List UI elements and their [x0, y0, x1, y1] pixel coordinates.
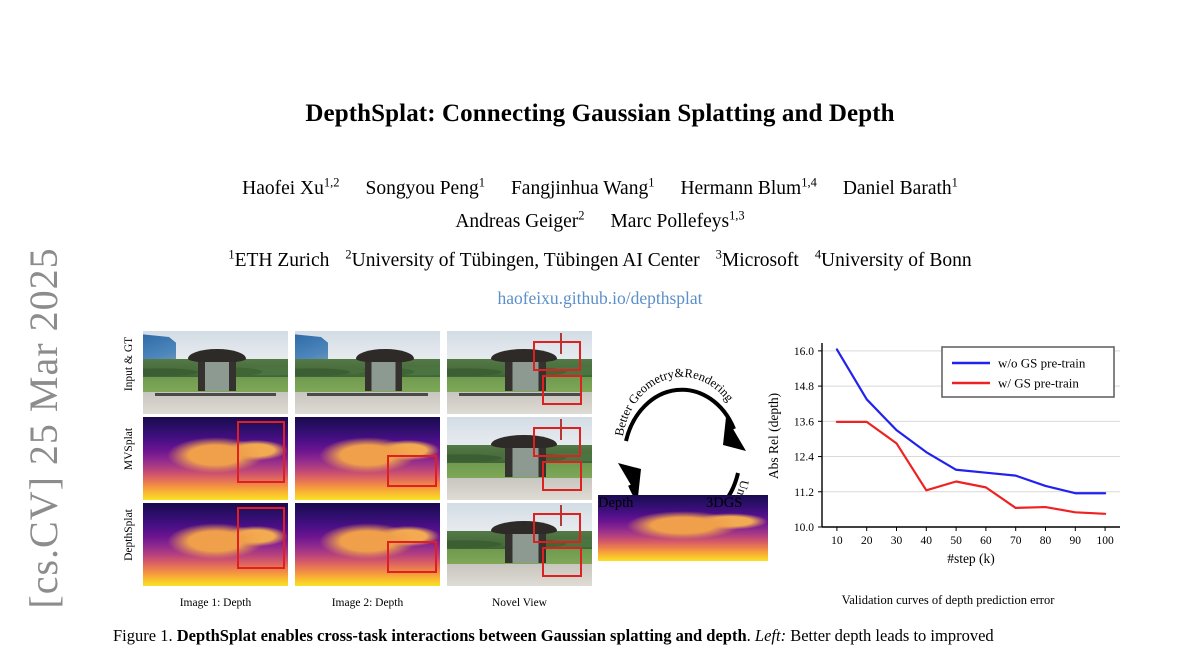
validation-curve-chart: 10.011.212.413.614.816.01020304050607080…: [762, 331, 1134, 616]
chart-xtick-label: 10: [831, 535, 843, 547]
chart-ytick-label: 12.4: [794, 452, 814, 464]
cycle-node-3dgs: 3DGS: [706, 495, 742, 512]
chart-xtick-label: 80: [1040, 535, 1052, 547]
chart-xtick-label: 40: [921, 535, 933, 547]
col-caption-image2: Image 2: Depth: [295, 597, 440, 609]
cell-depthsplat-depth1: [143, 503, 288, 586]
cell-depthsplat-novel-view: [447, 503, 592, 586]
cell-depthsplat-depth2: [295, 503, 440, 586]
chart-xtick-label: 50: [950, 535, 962, 547]
cycle-node-depth: Depth: [598, 495, 768, 561]
author-affil-sup: 1,3: [729, 209, 745, 223]
col-caption-image1: Image 1: Depth: [143, 597, 288, 609]
caption-bold: DepthSplat enables cross-task interactio…: [177, 626, 747, 645]
author-affil-sup: 1: [648, 176, 654, 190]
affiliations-row: 1ETH Zurich2University of Tübingen, Tübi…: [0, 250, 1200, 272]
author-name: Haofei Xu1,2: [242, 178, 339, 199]
col-caption-novel-view: Novel View: [447, 597, 592, 609]
page-title: DepthSplat: Connecting Gaussian Splattin…: [0, 100, 1200, 128]
project-url-link[interactable]: haofeixu.github.io/depthsplat: [0, 288, 1200, 309]
chart-series-line-1: [837, 422, 1105, 514]
author-name: Andreas Geiger2: [455, 211, 584, 232]
chart-ytick-label: 16.0: [794, 346, 814, 358]
chart-ytick-label: 13.6: [794, 416, 814, 428]
author-affil-sup: 1,2: [324, 176, 340, 190]
author-affil-sup: 1: [952, 176, 958, 190]
image-grid: [143, 331, 592, 589]
chart-ylabel: Abs Rel (depth): [766, 393, 781, 479]
legend-label-1: w/ GS pre-train: [998, 376, 1079, 391]
cell-input-image1: [143, 331, 288, 414]
chart-xtick-label: 90: [1070, 535, 1082, 547]
affiliation: 4University of Bonn: [815, 250, 972, 271]
cell-mvsplat-depth2: [295, 417, 440, 500]
author-name: Fangjinhua Wang1: [511, 178, 655, 199]
affiliation-sup: 1: [228, 248, 234, 262]
chart-xtick-label: 20: [861, 535, 873, 547]
arrowhead-to-3dgs: [723, 417, 746, 451]
affiliation-sup: 4: [815, 248, 821, 262]
affiliation-sup: 2: [345, 248, 351, 262]
affiliation-sup: 3: [716, 248, 722, 262]
cycle-diagram: Better Geometry&Rendering Unsupervised P…: [596, 345, 768, 561]
highlight-box-bottom: [542, 547, 582, 577]
highlight-box-top: [533, 513, 581, 543]
highlight-box: [387, 541, 437, 573]
affiliation: 1ETH Zurich: [228, 250, 329, 271]
affiliation: 3Microsoft: [716, 250, 799, 271]
caption-prefix: Figure 1.: [113, 626, 177, 645]
chart-ytick-label: 10.0: [794, 522, 814, 534]
highlight-box-bottom: [542, 375, 582, 405]
caption-italic: Left:: [755, 626, 786, 645]
chart-xtick-label: 30: [891, 535, 903, 547]
photo-pavilion-view2: [295, 331, 440, 414]
author-name: Hermann Blum1,4: [680, 178, 816, 199]
chart-ytick-label: 11.2: [794, 487, 814, 499]
highlight-box: [387, 455, 437, 487]
chart-plot-area: 10.011.212.413.614.816.01020304050607080…: [762, 331, 1134, 576]
row-label-group: Input & GT MVSplat DepthSplat: [118, 331, 140, 587]
highlight-box-top: [533, 341, 581, 371]
author-name: Daniel Barath1: [843, 178, 958, 199]
photo-pavilion: [143, 331, 288, 414]
cell-input-image2: [295, 331, 440, 414]
chart-caption: Validation curves of depth prediction er…: [762, 593, 1134, 608]
affiliation: 2University of Tübingen, Tübingen AI Cen…: [345, 250, 699, 271]
chart-xtick-label: 70: [1010, 535, 1022, 547]
pavilion-body: [365, 362, 403, 391]
author-name: Songyou Peng1: [365, 178, 484, 199]
highlight-box: [237, 421, 285, 483]
authors-row-2: Andreas Geiger2Marc Pollefeys1,3: [0, 211, 1200, 233]
caption-tail: Better depth leads to improved: [786, 626, 994, 645]
highlight-box-top: [533, 427, 581, 457]
cell-mvsplat-novel-view: [447, 417, 592, 500]
chart-xtick-label: 60: [980, 535, 992, 547]
chart-xlabel: #step (k): [947, 551, 995, 566]
arrowhead-to-depth: [618, 463, 641, 497]
pavilion-body: [198, 362, 236, 391]
figure-caption: Figure 1. DepthSplat enables cross-task …: [113, 626, 1113, 647]
caption-after: .: [747, 626, 755, 645]
chart-xtick-label: 100: [1096, 535, 1114, 547]
author-name: Marc Pollefeys1,3: [610, 211, 744, 232]
railing: [155, 393, 277, 396]
chart-svg: 10.011.212.413.614.816.01020304050607080…: [762, 331, 1134, 576]
chart-ytick-label: 14.8: [794, 381, 814, 393]
author-affil-sup: 1,4: [801, 176, 817, 190]
cell-mvsplat-depth1: [143, 417, 288, 500]
row-label-depthsplat: DepthSplat: [118, 482, 140, 588]
authors-row-1: Haofei Xu1,2Songyou Peng1Fangjinhua Wang…: [0, 178, 1200, 200]
author-affil-sup: 1: [479, 176, 485, 190]
railing: [307, 393, 429, 396]
legend-label-0: w/o GS pre-train: [998, 356, 1086, 371]
qualitative-image-grid: Input & GT MVSplat DepthSplat: [118, 331, 594, 593]
highlight-box-bottom: [542, 461, 582, 491]
cell-gt-novel-view: [447, 331, 592, 414]
author-affil-sup: 2: [578, 209, 584, 223]
highlight-box: [237, 507, 285, 569]
paper-page: [cs.CV] 25 Mar 2025 DepthSplat: Connecti…: [0, 0, 1200, 648]
